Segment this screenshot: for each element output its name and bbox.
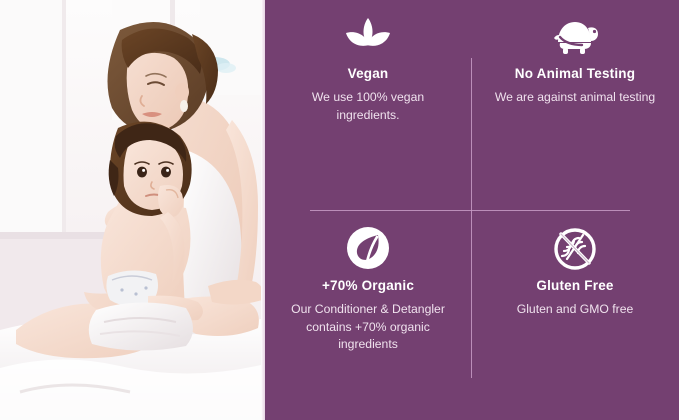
- feature-title: Vegan: [348, 66, 389, 82]
- features-panel: Vegan We use 100% vegan ingredients.: [265, 0, 679, 420]
- feature-description: We use 100% vegan ingredients.: [281, 89, 456, 124]
- leaf-circle-icon: [346, 226, 390, 270]
- turtle-icon: [550, 16, 600, 58]
- feature-title: +70% Organic: [322, 278, 414, 294]
- feature-gluten-free: Gluten Free Gluten and GMO free: [471, 210, 679, 420]
- no-gluten-wheat-icon: [552, 226, 598, 270]
- feature-description: We are against animal testing: [495, 89, 655, 106]
- feature-title: Gluten Free: [536, 278, 613, 294]
- feature-description: Gluten and GMO free: [517, 301, 634, 318]
- features-grid: Vegan We use 100% vegan ingredients.: [265, 0, 679, 420]
- feature-no-animal-testing: No Animal Testing We are against animal …: [471, 0, 679, 210]
- three-leaves-icon: [344, 16, 392, 58]
- mother-and-baby-illustration: [0, 0, 265, 420]
- feature-vegan: Vegan We use 100% vegan ingredients.: [265, 0, 471, 210]
- feature-organic: +70% Organic Our Conditioner & Detangler…: [265, 210, 471, 420]
- feature-title: No Animal Testing: [515, 66, 635, 82]
- product-feature-banner: Vegan We use 100% vegan ingredients.: [0, 0, 679, 420]
- feature-description: Our Conditioner & Detangler contains +70…: [286, 301, 451, 353]
- lifestyle-photo: [0, 0, 265, 420]
